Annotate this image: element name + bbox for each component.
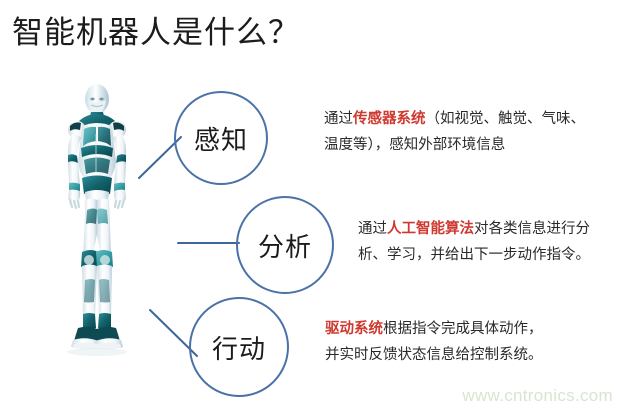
page-title: 智能机器人是什么？ (12, 13, 300, 53)
description-text: 通过 (358, 221, 387, 237)
description-perception: 通过传感器系统（如视觉、触觉、气味、温度等），感知外部环境信息 (324, 106, 624, 158)
description-text: 并实时反馈状态信息给控制系统。 (325, 347, 543, 363)
highlighted-term: 传感器系统 (353, 111, 426, 127)
slide-canvas: 智能机器人是什么？ (0, 0, 625, 412)
bubble-action[interactable]: 行动 (189, 297, 289, 397)
bubble-perception[interactable]: 感知 (174, 91, 268, 185)
description-line: 驱动系统根据指令完成具体动作， (325, 316, 615, 342)
bubble-analysis[interactable]: 分析 (236, 196, 334, 294)
humanoid-robot-illustration (44, 82, 148, 397)
description-line: 通过传感器系统（如视觉、触觉、气味、 (324, 106, 624, 132)
description-line: 温度等），感知外部环境信息 (324, 132, 624, 158)
description-line: 并实时反馈状态信息给控制系统。 (325, 342, 615, 368)
description-action: 驱动系统根据指令完成具体动作，并实时反馈状态信息给控制系统。 (325, 316, 615, 368)
description-text: 温度等），感知外部环境信息 (324, 137, 505, 153)
bubble-action-label: 行动 (212, 329, 266, 366)
description-text: 对各类信息进行分 (474, 221, 590, 237)
highlighted-term: 驱动系统 (325, 321, 383, 337)
description-line: 析、学习，并给出下一步动作指令。 (358, 242, 625, 268)
description-text: 析、学习，并给出下一步动作指令。 (358, 247, 590, 263)
description-text: （如视觉、触觉、气味、 (426, 111, 586, 127)
bubble-analysis-label: 分析 (258, 227, 312, 264)
description-text: 根据指令完成具体动作， (383, 321, 543, 337)
description-line: 通过人工智能算法对各类信息进行分 (358, 216, 625, 242)
bubble-perception-label: 感知 (194, 120, 248, 157)
description-analysis: 通过人工智能算法对各类信息进行分析、学习，并给出下一步动作指令。 (358, 216, 625, 268)
site-watermark: www.cntronics.com (462, 386, 613, 406)
description-text: 通过 (324, 111, 353, 127)
highlighted-term: 人工智能算法 (387, 221, 474, 237)
